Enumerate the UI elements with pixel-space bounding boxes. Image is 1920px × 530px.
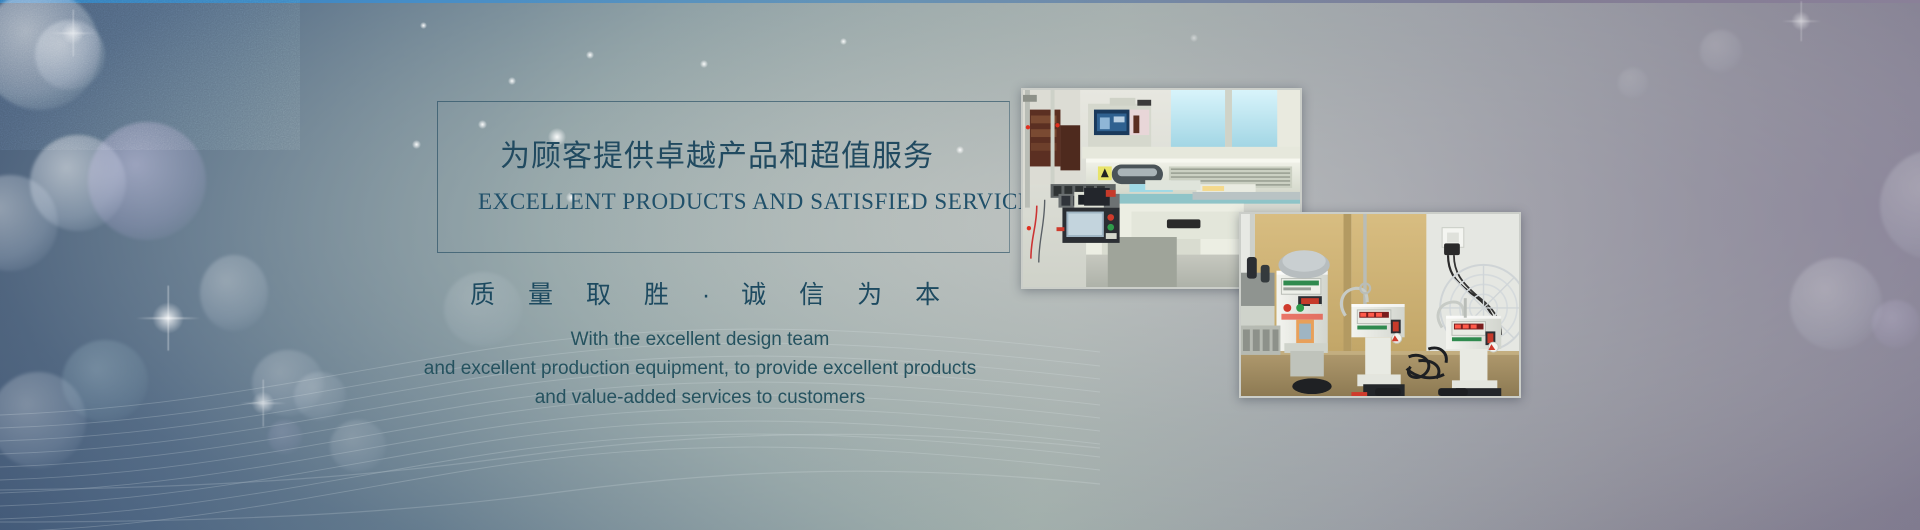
bokeh-circle xyxy=(330,420,386,472)
bokeh-circle xyxy=(1880,150,1920,260)
description-line: and value-added services to customers xyxy=(300,383,1100,412)
sparkle-dot xyxy=(508,77,516,85)
bokeh-circle xyxy=(35,20,105,90)
slogan-char: 取 xyxy=(586,281,612,309)
lens-flare xyxy=(1790,10,1812,32)
slogan-char: 本 xyxy=(915,281,941,309)
headline-chinese: 为顾客提供卓越产品和超值服务 xyxy=(500,131,1060,175)
lens-flare xyxy=(150,300,186,336)
bokeh-circle xyxy=(1700,30,1742,72)
bokeh-circle xyxy=(62,340,148,422)
texture-noise-overlay xyxy=(0,0,300,150)
bokeh-circle xyxy=(0,175,58,271)
lens-flare xyxy=(60,20,86,46)
bokeh-circle xyxy=(268,420,302,454)
lens-flare xyxy=(250,390,276,416)
slogan-line: 质 量 取 胜 · 诚 信 为 本 xyxy=(470,275,1030,311)
description-line: With the excellent design team xyxy=(300,325,1100,354)
promo-banner: 为顾客提供卓越产品和超值服务 EXCELLENT PRODUCTS AND SA… xyxy=(0,0,1920,530)
slogan-char: 胜 xyxy=(644,281,670,309)
sparkle-dot xyxy=(420,22,427,29)
slogan-char: 为 xyxy=(857,281,883,309)
slogan-char: 诚 xyxy=(741,281,767,309)
top-accent-rule xyxy=(0,0,1920,3)
sparkle-dot xyxy=(1190,34,1198,42)
bokeh-circle xyxy=(30,135,126,231)
sparkle-dot xyxy=(840,38,847,45)
bokeh-circle xyxy=(200,255,268,331)
bokeh-circle xyxy=(1790,258,1882,350)
bokeh-light-circles xyxy=(0,0,1920,530)
press-machines-photo xyxy=(1239,212,1521,398)
sparkle-dot xyxy=(700,60,708,68)
slogan-char: 信 xyxy=(799,281,825,309)
slogan-separator-dot: · xyxy=(702,281,711,309)
description-paragraph: With the excellent design team and excel… xyxy=(300,325,1100,412)
sparkle-dot xyxy=(412,140,421,149)
bokeh-circle xyxy=(0,372,86,468)
bokeh-circle xyxy=(0,0,100,110)
bokeh-circle xyxy=(1618,68,1648,98)
bokeh-circle xyxy=(1872,300,1920,348)
sparkle-dot xyxy=(586,51,594,59)
slogan-char: 量 xyxy=(528,281,554,309)
headline-frame xyxy=(437,101,1010,253)
bokeh-circle xyxy=(88,122,206,240)
slogan-char: 质 xyxy=(470,281,496,309)
description-line: and excellent production equipment, to p… xyxy=(300,354,1100,383)
